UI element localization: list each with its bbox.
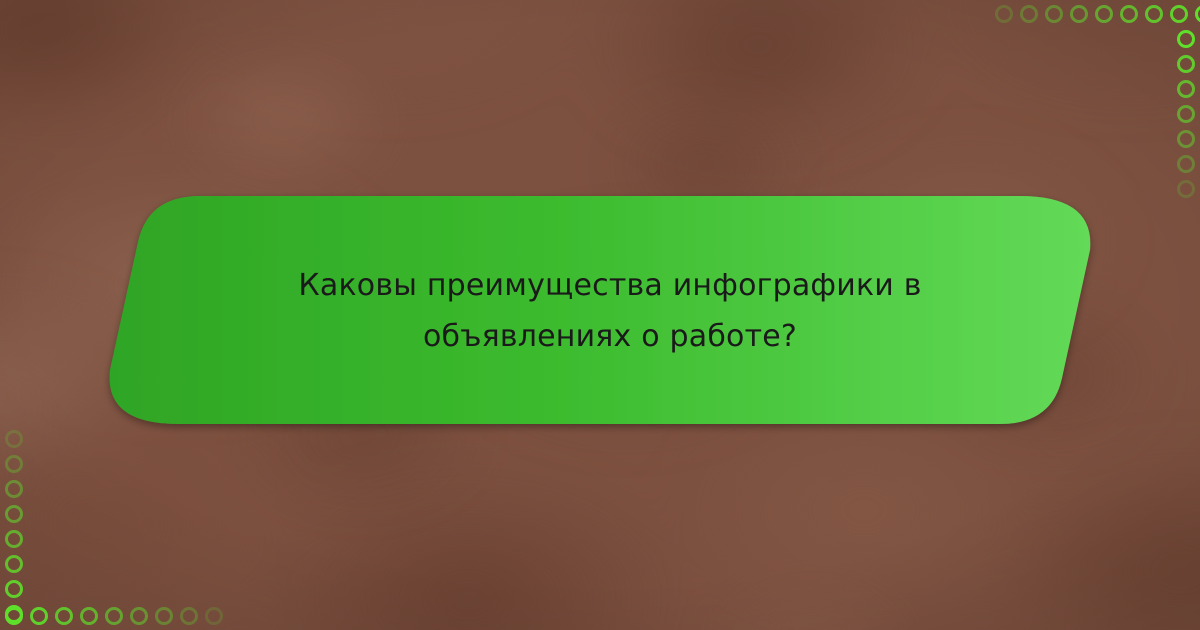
ring-dot-icon [1145,5,1163,23]
ring-dot-icon [30,607,48,625]
poster-canvas: Каковы преимущества инфографики в объявл… [0,0,1200,630]
ring-dot-icon [1095,5,1113,23]
ring-dot-icon [1170,5,1188,23]
ring-dot-icon [5,607,23,625]
ring-dot-icon [5,555,23,573]
ring-dot-icon [5,505,23,523]
banner-title-line-1: Каковы преимущества инфографики в [298,267,921,305]
ring-dot-icon [180,607,198,625]
ring-dot-icon [1177,130,1195,148]
ring-dot-icon [1020,5,1038,23]
ring-dot-icon [1177,155,1195,173]
banner-title-line-2: объявлениях о работе? [423,318,797,356]
ring-dot-icon [80,607,98,625]
ring-dot-icon [995,5,1013,23]
ring-dot-icon [155,607,173,625]
ring-dot-icon [1177,105,1195,123]
ring-dot-icon [105,607,123,625]
banner-text-block: Каковы преимущества инфографики в объявл… [140,196,1080,426]
ring-dot-icon [5,580,23,598]
ring-dot-icon [130,607,148,625]
ring-dot-icon [5,480,23,498]
ring-dot-icon [1177,180,1195,198]
ring-dot-icon [1177,30,1195,48]
ring-dot-icon [5,455,23,473]
ring-dot-icon [1070,5,1088,23]
ring-dot-icon [205,607,223,625]
ring-dot-icon [55,607,73,625]
ring-dot-icon [1177,80,1195,98]
ring-dot-icon [1177,55,1195,73]
ring-dot-icon [1120,5,1138,23]
ring-dot-icon [5,430,23,448]
ring-dot-icon [5,530,23,548]
ring-dot-icon [1045,5,1063,23]
